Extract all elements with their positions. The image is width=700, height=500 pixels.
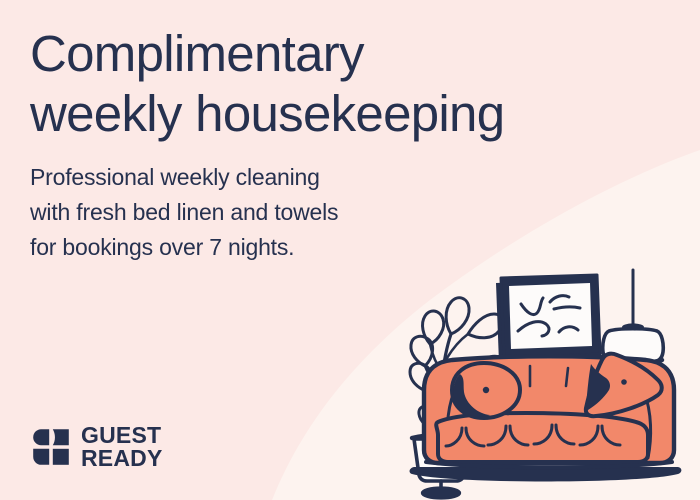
brand-wordmark: GUEST READY (81, 424, 163, 470)
logo-quadrant-top-left (33, 429, 49, 445)
promo-card: Complimentary weekly housekeeping Profes… (0, 0, 700, 500)
round-cushion (452, 363, 520, 418)
logo-quadrant-top-right (53, 429, 69, 445)
logo-quadrant-bottom-right (53, 449, 69, 465)
living-room-illustration (390, 262, 700, 500)
brand-word-line-2: READY (81, 447, 163, 470)
logo-quadrant-bottom-left (33, 449, 49, 465)
brand-word-line-1: GUEST (81, 424, 163, 447)
coral-sofa (410, 354, 682, 482)
guest-ready-logo-icon (32, 428, 70, 466)
framed-artwork (496, 275, 600, 363)
description-text: Professional weekly cleaning with fresh … (30, 144, 590, 265)
brand-logo: GUEST READY (32, 424, 163, 470)
page-title: Complimentary weekly housekeeping (30, 24, 590, 144)
copy-block: Complimentary weekly housekeeping Profes… (30, 24, 590, 265)
